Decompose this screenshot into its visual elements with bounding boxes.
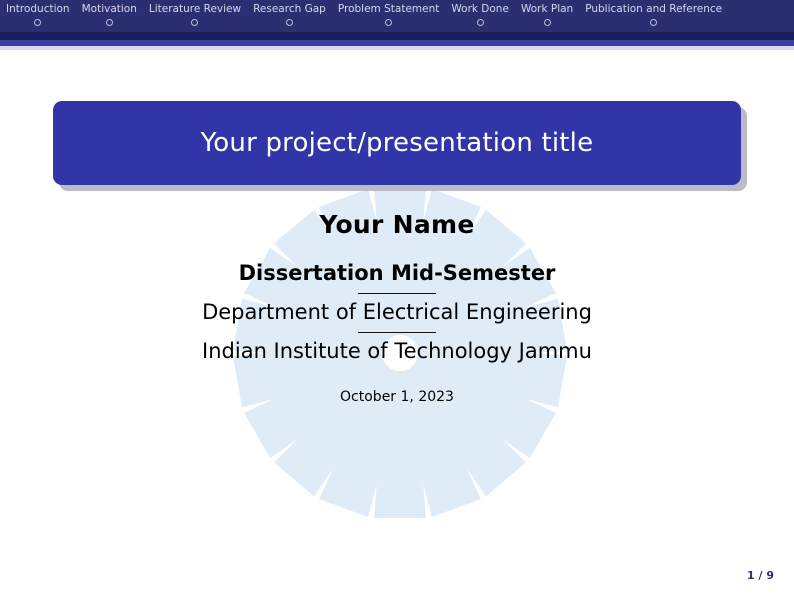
header-stripe-light: [0, 46, 794, 50]
nav-dot-icon: [106, 19, 113, 26]
title-slide-content: Your Name Dissertation Mid-Semester Depa…: [0, 210, 794, 405]
nav-item-label: Research Gap: [253, 3, 326, 15]
header-stripe-dark: [0, 32, 794, 40]
department-name: Department of Electrical Engineering: [0, 300, 794, 324]
nav-dot-icon: [544, 19, 551, 26]
nav-dot-icon: [191, 19, 198, 26]
nav-dot-icon: [650, 19, 657, 26]
nav-item-label: Introduction: [6, 3, 70, 15]
nav-item-publication-and-reference[interactable]: Publication and Reference: [579, 3, 728, 26]
nav-item-introduction[interactable]: Introduction: [0, 3, 76, 26]
nav-item-label: Work Done: [451, 3, 509, 15]
title-box: Your project/presentation title: [53, 101, 741, 185]
nav-item-research-gap[interactable]: Research Gap: [247, 3, 332, 26]
nav-dot-icon: [477, 19, 484, 26]
author-name: Your Name: [0, 210, 794, 239]
nav-dot-icon: [34, 19, 41, 26]
institute-name: Indian Institute of Technology Jammu: [0, 339, 794, 363]
divider-rule-top: [358, 293, 436, 294]
nav-item-label: Motivation: [82, 3, 137, 15]
nav-item-problem-statement[interactable]: Problem Statement: [332, 3, 446, 26]
nav-item-label: Work Plan: [521, 3, 573, 15]
page-number: 1 / 9: [747, 569, 774, 582]
nav-item-label: Problem Statement: [338, 3, 440, 15]
presentation-subtitle: Dissertation Mid-Semester: [0, 261, 794, 285]
nav-item-literature-review[interactable]: Literature Review: [143, 3, 247, 26]
nav-item-work-done[interactable]: Work Done: [445, 3, 515, 26]
nav-item-label: Publication and Reference: [585, 3, 722, 15]
nav-item-work-plan[interactable]: Work Plan: [515, 3, 579, 26]
nav-item-label: Literature Review: [149, 3, 241, 15]
section-navigation-bar: Introduction Motivation Literature Revie…: [0, 0, 794, 32]
presentation-title: Your project/presentation title: [201, 128, 594, 158]
divider-rule-bottom: [358, 332, 436, 333]
nav-dot-icon: [286, 19, 293, 26]
nav-dot-icon: [385, 19, 392, 26]
nav-item-motivation[interactable]: Motivation: [76, 3, 143, 26]
presentation-date: October 1, 2023: [0, 389, 794, 405]
